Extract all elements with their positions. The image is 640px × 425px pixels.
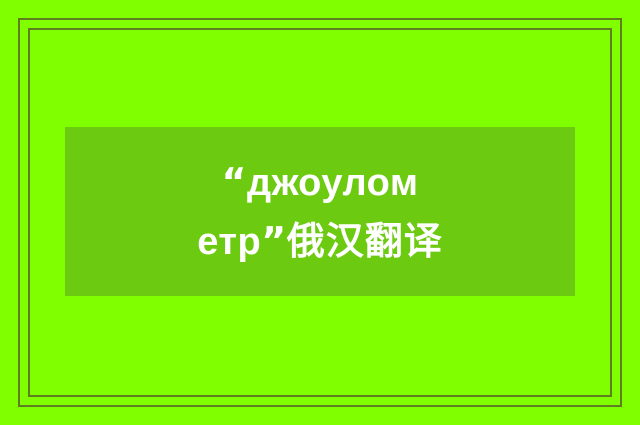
close-quote-glyph: ” — [261, 219, 286, 263]
headline-panel: “джоулом етр”俄汉翻译 — [65, 127, 575, 296]
headline-line-1-text: джоулом — [247, 162, 418, 204]
open-quote-glyph: “ — [222, 160, 247, 204]
headline-line-1: “джоулом — [197, 153, 442, 212]
headline-line-2-text: етр — [197, 221, 261, 263]
page-title: “джоулом етр”俄汉翻译 — [197, 153, 442, 271]
headline-line-2: етр”俄汉翻译 — [197, 212, 442, 271]
headline-line-2-cjk: 俄汉翻译 — [287, 219, 443, 263]
title-card: “джоулом етр”俄汉翻译 — [0, 0, 640, 425]
